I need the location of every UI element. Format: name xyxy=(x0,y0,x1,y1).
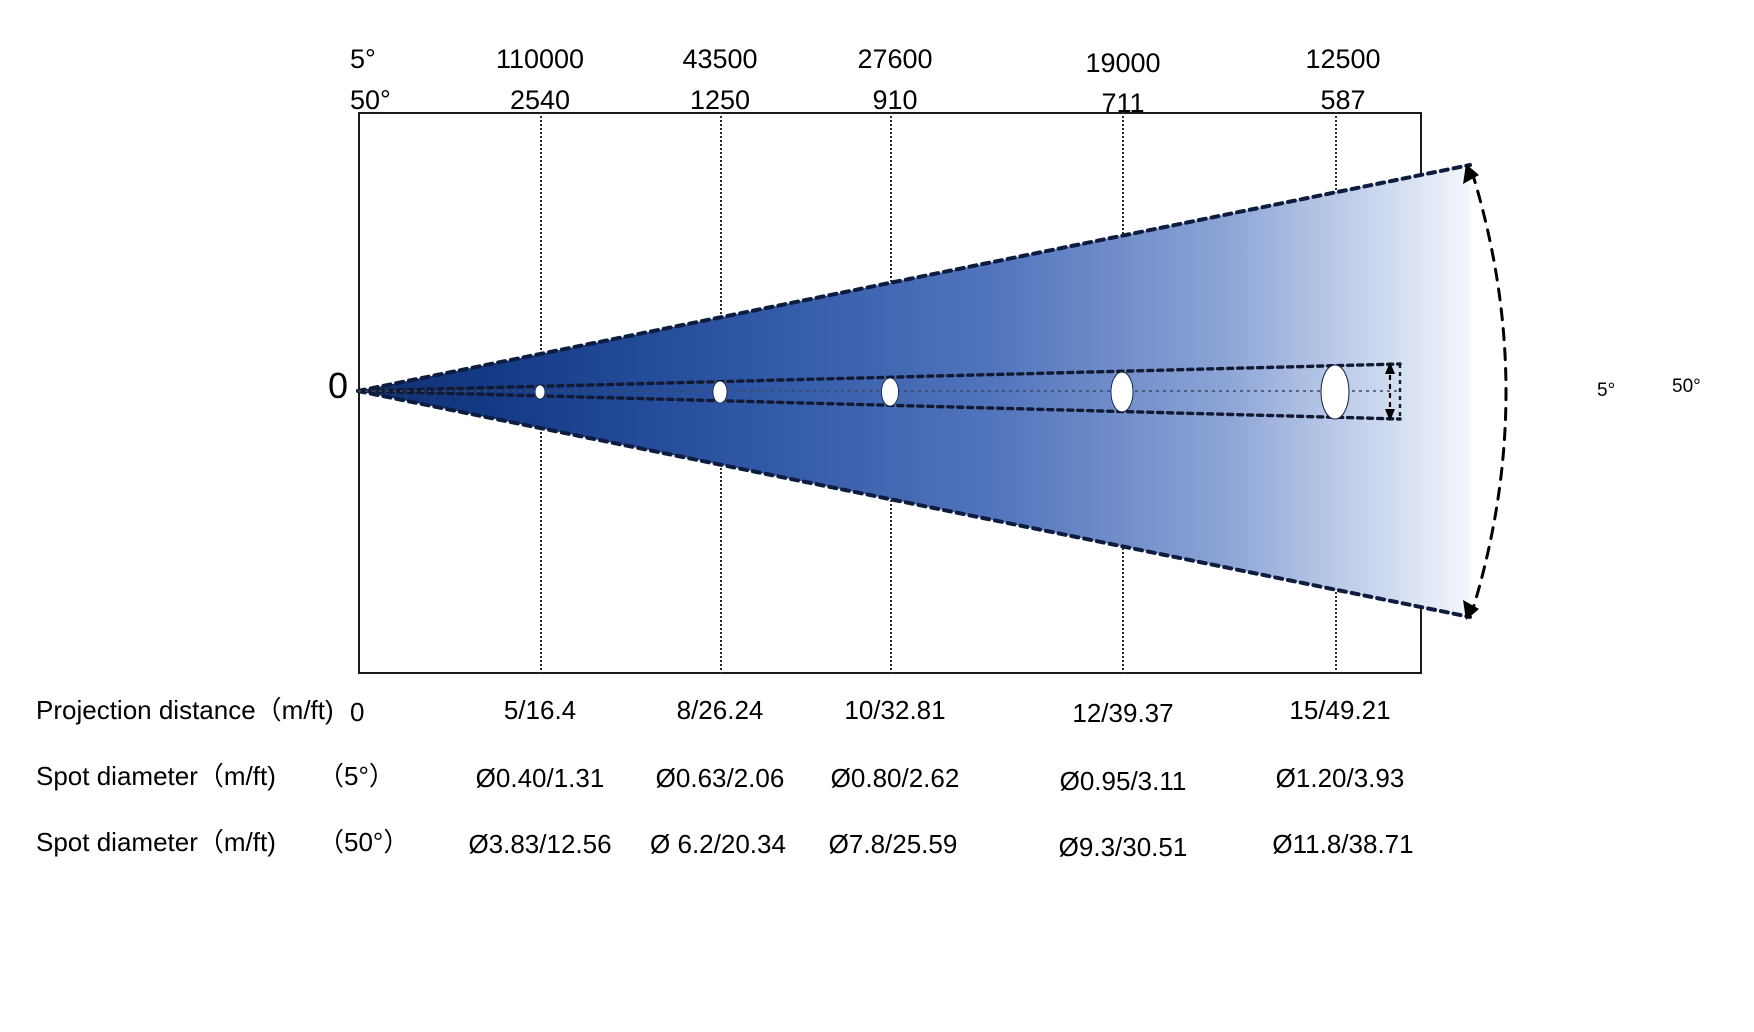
angle-label-5deg: 5° xyxy=(1597,381,1615,401)
spot-diameter-5deg-col-1: Ø0.40/1.31 xyxy=(440,763,640,793)
spot-diameter-50deg-col-1: Ø3.83/12.56 xyxy=(435,829,645,859)
spot-diameter-50deg-col-4: Ø9.3/30.51 xyxy=(1023,832,1223,862)
spot-diameter-5deg-col-5: Ø1.20/3.93 xyxy=(1240,763,1440,793)
header-angle-5deg: 5° xyxy=(350,44,376,74)
projection-distance-origin: 0 xyxy=(350,697,364,727)
gridline-col-4 xyxy=(1122,112,1124,674)
row-label-spot-diameter-5deg: Spot diameter（m/ft) xyxy=(36,761,276,791)
projection-distance-col-2: 8/26.24 xyxy=(620,695,820,725)
spot-diameter-50deg-col-3: Ø7.8/25.59 xyxy=(793,829,993,859)
angle-label-50deg: 50° xyxy=(1672,377,1701,397)
illuminance-50deg-col-1: 2540 xyxy=(440,85,640,115)
header-angle-50deg: 50° xyxy=(350,85,391,115)
illuminance-5deg-col-1: 110000 xyxy=(440,44,640,74)
illuminance-5deg-col-4: 19000 xyxy=(1023,48,1223,78)
projection-distance-col-5: 15/49.21 xyxy=(1240,695,1440,725)
origin-label: 0 xyxy=(328,368,348,404)
illuminance-50deg-col-5: 587 xyxy=(1243,85,1443,115)
diagram-page: 5° 50° 110000 43500 27600 19000 12500 25… xyxy=(0,0,1754,1032)
gridline-col-3 xyxy=(890,112,892,674)
spot-diameter-50deg-col-5: Ø11.8/38.71 xyxy=(1238,829,1448,859)
angle-indicator-50deg xyxy=(1463,164,1506,620)
row-label-spot-diameter-50deg: Spot diameter（m/ft) xyxy=(36,827,276,857)
gridline-col-2 xyxy=(720,112,722,674)
spot-diameter-5deg-col-3: Ø0.80/2.62 xyxy=(795,763,995,793)
projection-distance-col-3: 10/32.81 xyxy=(795,695,995,725)
spot-diameter-5deg-col-4: Ø0.95/3.11 xyxy=(1023,766,1223,796)
illuminance-5deg-col-2: 43500 xyxy=(620,44,820,74)
illuminance-5deg-col-3: 27600 xyxy=(795,44,995,74)
gridline-col-1 xyxy=(540,112,542,674)
illuminance-50deg-col-3: 910 xyxy=(795,85,995,115)
gridline-col-5 xyxy=(1335,112,1337,674)
projection-distance-col-1: 5/16.4 xyxy=(440,695,640,725)
row-sub-50deg: （50°） xyxy=(318,827,409,857)
illuminance-50deg-col-2: 1250 xyxy=(620,85,820,115)
projection-distance-col-4: 12/39.37 xyxy=(1023,698,1223,728)
illuminance-5deg-col-5: 12500 xyxy=(1243,44,1443,74)
row-sub-5deg: （5°） xyxy=(318,761,395,791)
spot-diameter-50deg-col-2: Ø 6.2/20.34 xyxy=(618,829,818,859)
row-label-projection-distance: Projection distance（m/ft) xyxy=(36,695,334,725)
spot-diameter-5deg-col-2: Ø0.63/2.06 xyxy=(620,763,820,793)
